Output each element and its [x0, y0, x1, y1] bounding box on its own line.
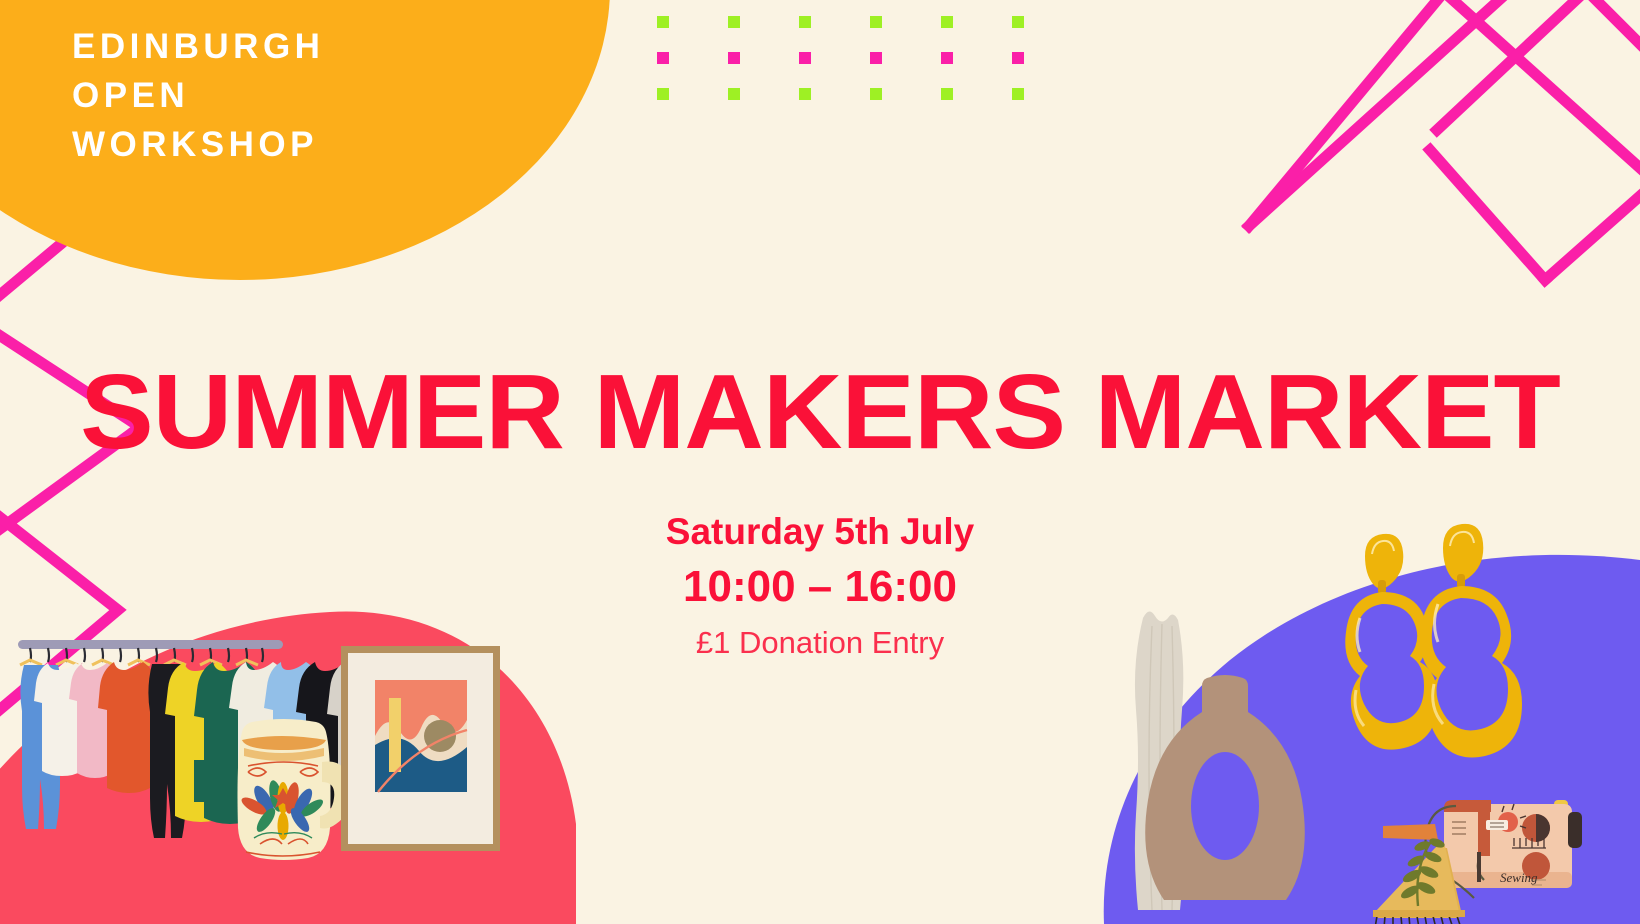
sewing-machine-brand-label: Sewing	[1500, 870, 1538, 885]
event-price: £1 Donation Entry	[0, 622, 1640, 664]
event-date: Saturday 5th July	[0, 505, 1640, 558]
event-time: 10:00 – 16:00	[0, 558, 1640, 616]
page-title: SUMMER MAKERS MARKET	[0, 362, 1640, 462]
event-details: Saturday 5th July 10:00 – 16:00	[0, 505, 1640, 616]
poster-canvas: EDINBURGH OPEN WORKSHOP	[0, 0, 1640, 924]
